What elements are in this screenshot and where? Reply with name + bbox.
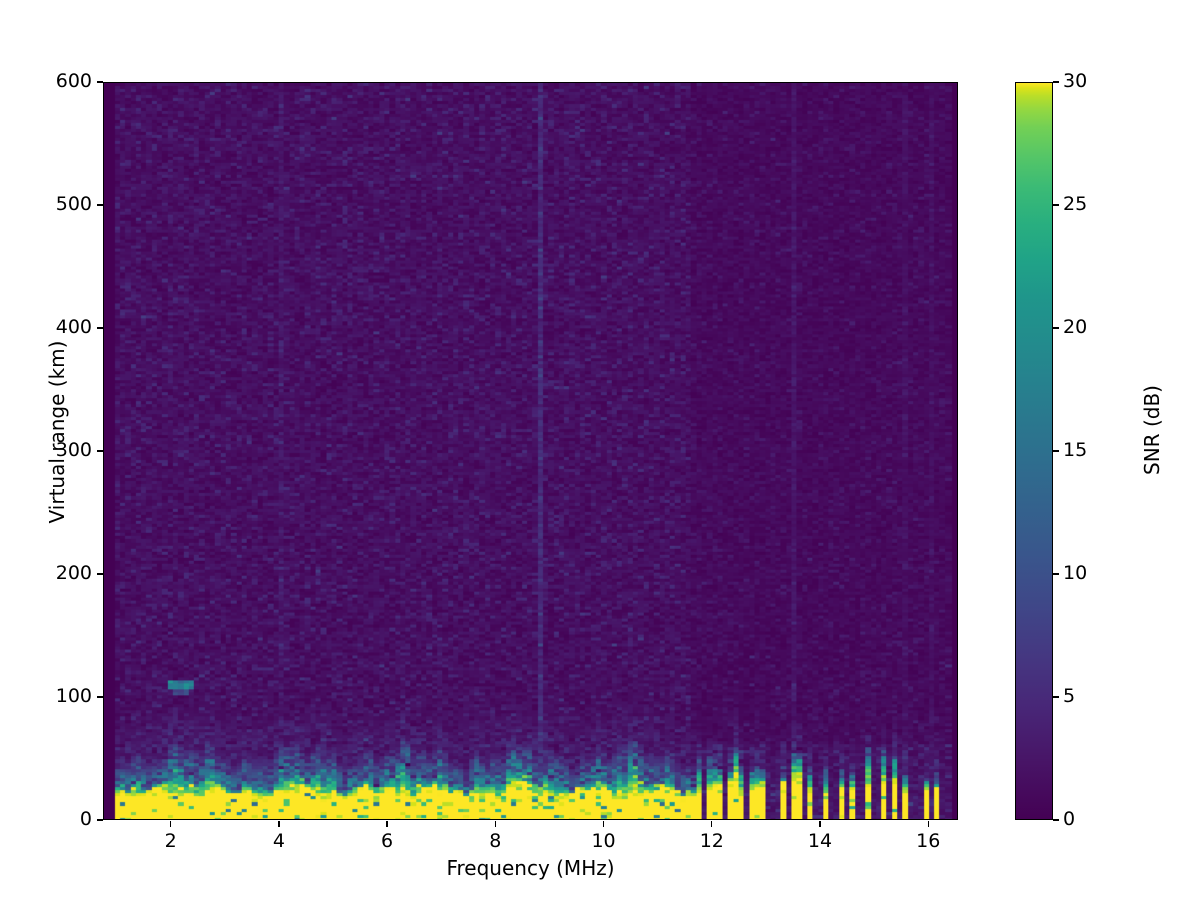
y-axis-label: Virtual range (km): [45, 62, 69, 802]
colorbar-tick-label: 20: [1063, 318, 1111, 337]
y-tick-label: 0: [22, 810, 92, 829]
colorbar-tick-mark: [1053, 327, 1059, 328]
colorbar-tick-label: 25: [1063, 195, 1111, 214]
x-tick-label: 4: [249, 830, 309, 852]
y-tick-mark: [97, 819, 103, 820]
colorbar-label: SNR (dB): [1140, 230, 1164, 630]
colorbar-tick-label: 5: [1063, 687, 1111, 706]
x-tick-label: 6: [357, 830, 417, 852]
x-tick-label: 14: [790, 830, 850, 852]
x-tick-label: 16: [898, 830, 958, 852]
colorbar: [1015, 82, 1053, 820]
colorbar-tick-mark: [1053, 696, 1059, 697]
y-tick-mark: [97, 450, 103, 451]
y-tick-mark: [97, 204, 103, 205]
x-tick-mark: [170, 821, 171, 827]
x-tick-mark: [928, 821, 929, 827]
colorbar-tick-mark: [1053, 573, 1059, 574]
colorbar-tick-label: 10: [1063, 564, 1111, 583]
x-tick-mark: [711, 821, 712, 827]
ionogram-plot-area[interactable]: [103, 82, 958, 820]
x-tick-label: 10: [574, 830, 634, 852]
y-tick-mark: [97, 327, 103, 328]
colorbar-tick-mark: [1053, 819, 1059, 820]
x-tick-mark: [386, 821, 387, 827]
x-tick-mark: [495, 821, 496, 827]
ionogram-heatmap-canvas: [104, 83, 957, 819]
colorbar-tick-mark: [1053, 81, 1059, 82]
ionogram-figure: IRF Kiruna Ionosonde KI167 2026-04-20 14…: [0, 0, 1200, 900]
colorbar-tick-mark: [1053, 204, 1059, 205]
y-tick-mark: [97, 81, 103, 82]
y-tick-mark: [97, 696, 103, 697]
colorbar-tick-mark: [1053, 450, 1059, 451]
colorbar-tick-label: 15: [1063, 441, 1111, 460]
x-tick-mark: [278, 821, 279, 827]
x-tick-label: 12: [682, 830, 742, 852]
x-tick-label: 8: [465, 830, 525, 852]
x-tick-label: 2: [141, 830, 201, 852]
y-tick-mark: [97, 573, 103, 574]
colorbar-tick-label: 30: [1063, 72, 1111, 91]
x-tick-mark: [603, 821, 604, 827]
colorbar-tick-label: 0: [1063, 810, 1111, 829]
x-tick-mark: [819, 821, 820, 827]
x-axis-label: Frequency (MHz): [103, 856, 958, 880]
